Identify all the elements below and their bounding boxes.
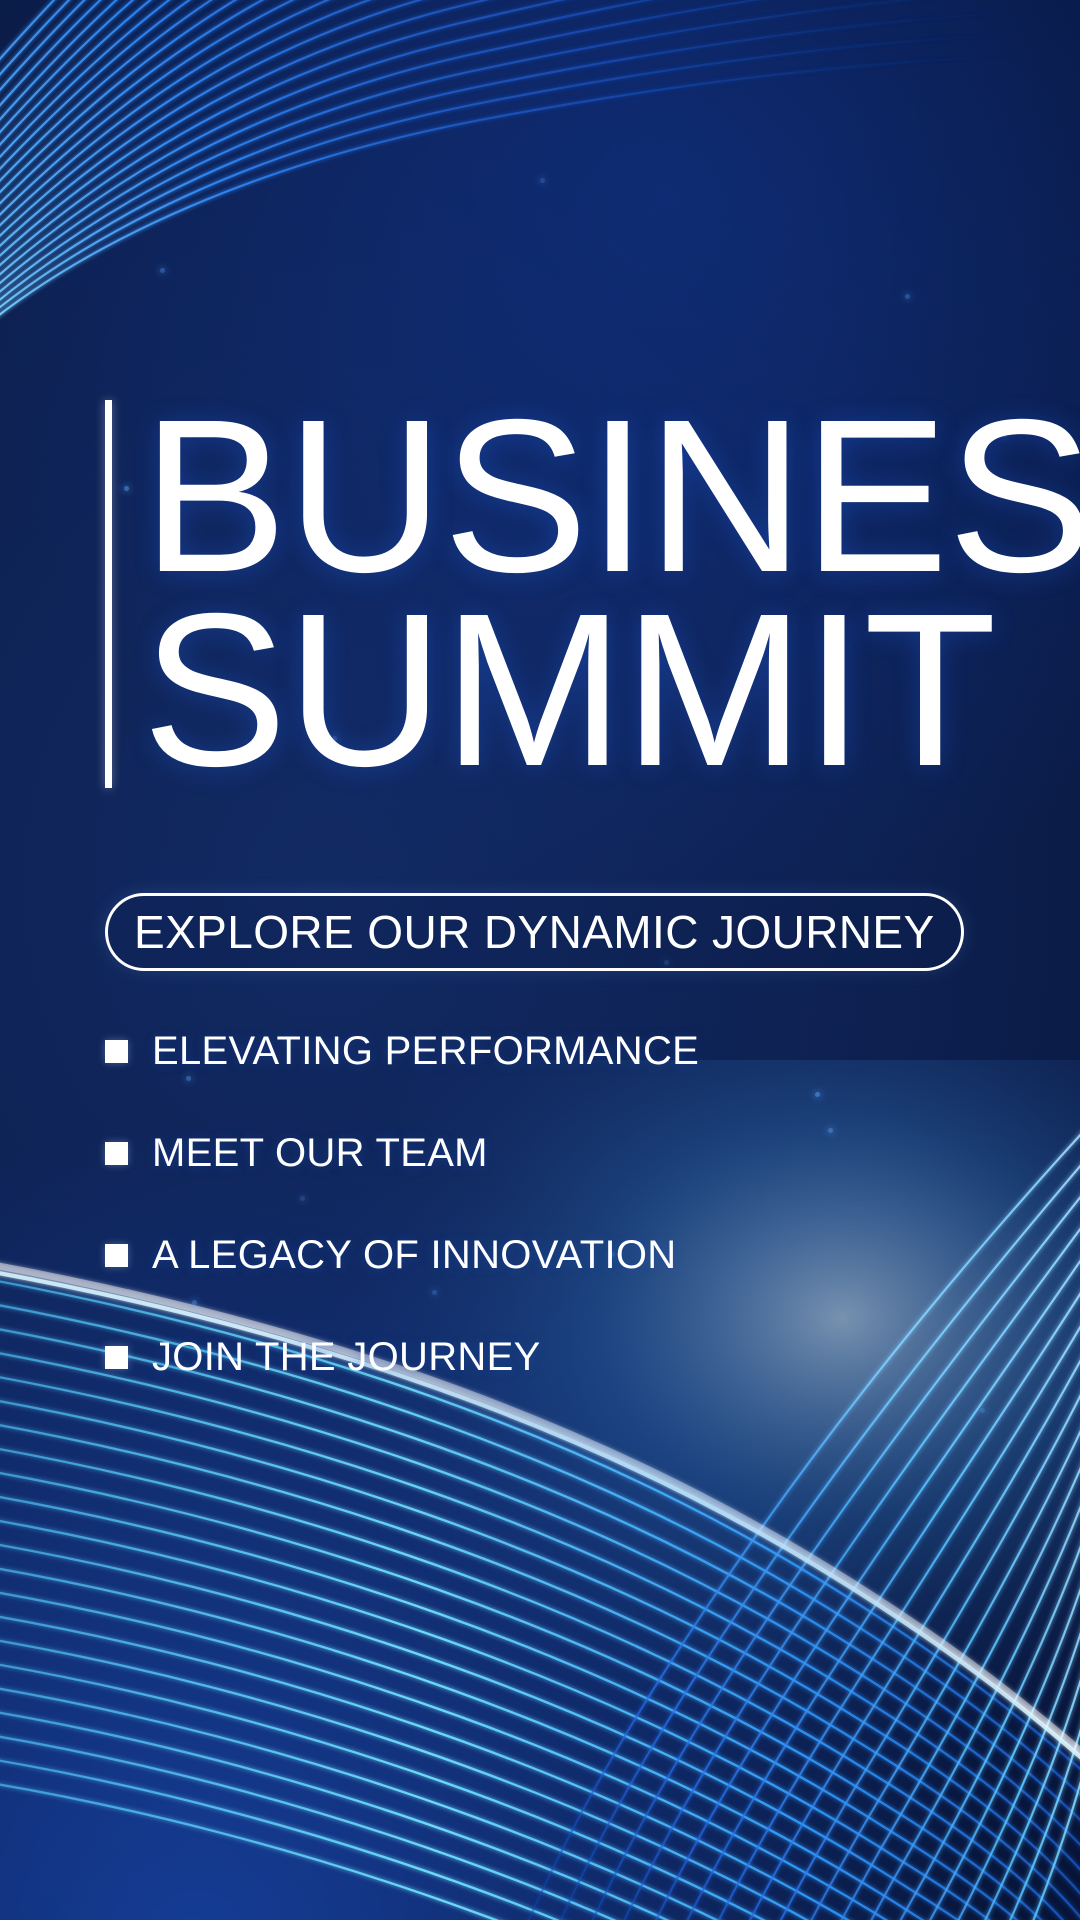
square-bullet-icon: [105, 1040, 128, 1063]
list-item-label: MEET OUR TEAM: [152, 1131, 488, 1176]
list-item-label: ELEVATING PERFORMANCE: [152, 1029, 699, 1074]
agenda-list: ELEVATING PERFORMANCE MEET OUR TEAM A LE…: [105, 1022, 699, 1386]
list-item[interactable]: A LEGACY OF INNOVATION: [105, 1226, 699, 1284]
list-item[interactable]: JOIN THE JOURNEY: [105, 1328, 699, 1386]
title-lines: BUSINESS SUMMIT: [142, 400, 1080, 788]
square-bullet-icon: [105, 1346, 128, 1369]
square-bullet-icon: [105, 1142, 128, 1165]
list-item-label: A LEGACY OF INNOVATION: [152, 1233, 677, 1278]
poster-content: BUSINESS SUMMIT EXPLORE OUR DYNAMIC JOUR…: [0, 0, 1080, 1920]
poster-canvas: BUSINESS SUMMIT EXPLORE OUR DYNAMIC JOUR…: [0, 0, 1080, 1920]
title-accent-bar: [105, 400, 112, 788]
list-item[interactable]: MEET OUR TEAM: [105, 1124, 699, 1182]
square-bullet-icon: [105, 1244, 128, 1267]
title-line-1: BUSINESS: [142, 400, 1080, 594]
title-line-2: SUMMIT: [142, 594, 1080, 788]
page-title: BUSINESS SUMMIT: [105, 400, 1080, 788]
tagline-button[interactable]: EXPLORE OUR DYNAMIC JOURNEY: [105, 893, 964, 971]
list-item[interactable]: ELEVATING PERFORMANCE: [105, 1022, 699, 1080]
list-item-label: JOIN THE JOURNEY: [152, 1335, 541, 1380]
